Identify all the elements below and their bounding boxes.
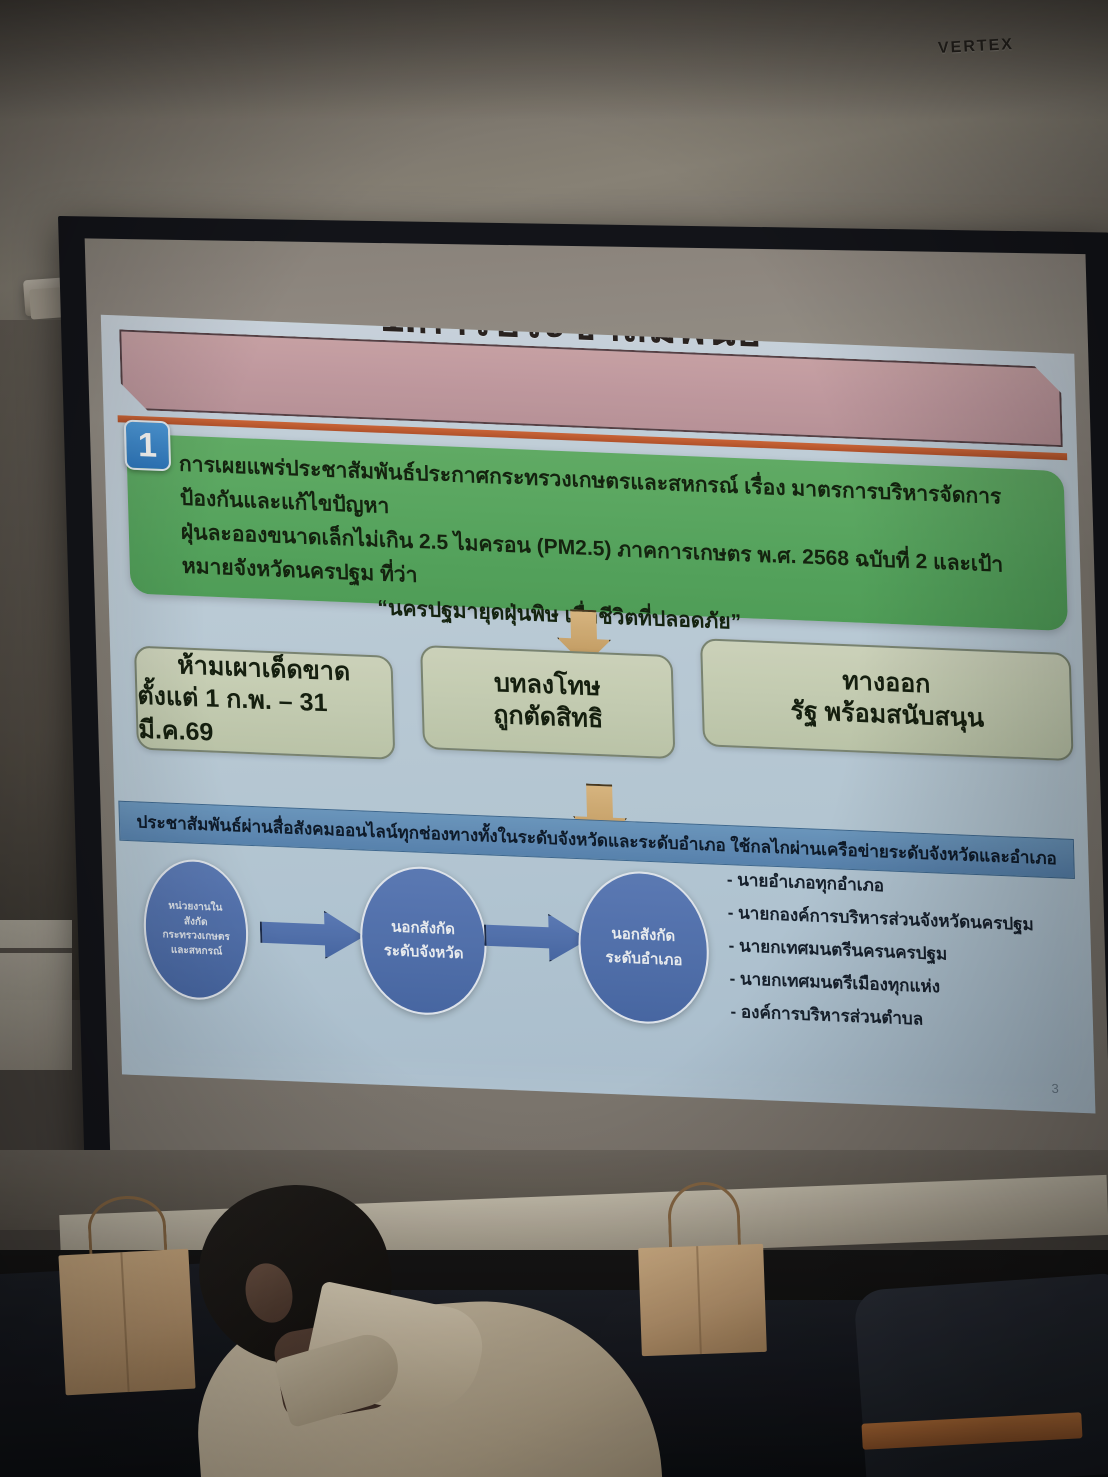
option-box-solution: ทางออก รัฐ พร้อมสนับสนุน bbox=[700, 638, 1074, 761]
flow-node-1-line-4: และสหกรณ์ bbox=[171, 943, 223, 960]
option-box-penalty: บทลงโทษ ถูกตัดสิทธิ bbox=[420, 645, 675, 759]
arrow-right-icon-1 bbox=[259, 908, 364, 960]
list-item: นายกองค์การบริหารส่วนจังหวัดนครปฐม bbox=[727, 904, 1088, 935]
flow-node-3-line-1: นอกสังกัด bbox=[611, 922, 675, 949]
bag-crease bbox=[696, 1246, 702, 1354]
list-item: นายกเทศมนตรีนครนครปฐม bbox=[728, 937, 1089, 968]
flow-node-district-external: นอกสังกัด ระดับอำเภอ bbox=[576, 869, 710, 1026]
seated-attendee bbox=[160, 1185, 680, 1477]
flow-node-1-line-2: สังกัด bbox=[184, 915, 208, 930]
recipient-list: นายอำเภอทุกอำเภอ นายกองค์การบริหารส่วนจั… bbox=[727, 871, 1092, 1050]
window-frame bbox=[0, 948, 72, 953]
step-number-badge: 1 bbox=[124, 419, 171, 471]
slide-page-number: 3 bbox=[1051, 1081, 1059, 1096]
paper-bag-left bbox=[58, 1249, 195, 1396]
intro-green-box: 1 การเผยแพร่ประชาสัมพันธ์ประกาศกระทรวงเก… bbox=[126, 434, 1068, 632]
intro-text: การเผยแพร่ประชาสัมพันธ์ประกาศกระทรวงเกษต… bbox=[179, 448, 1057, 653]
ceiling-shadow bbox=[0, 0, 1108, 120]
photo-scene: VERTEX 1.การประชาสัมพันธ์ 1 การเผยแพร่ปร… bbox=[0, 0, 1108, 1477]
option-box-ban-burning: ห้ามเผาเด็ดขาด ตั้งแต่ 1 ก.พ. – 31 มี.ค.… bbox=[134, 646, 395, 760]
flow-node-2-line-2: ระดับจังหวัด bbox=[384, 939, 464, 966]
flow-node-1-line-1: หน่วยงานใน bbox=[168, 900, 222, 917]
option-1-line-2: ตั้งแต่ 1 ก.พ. – 31 มี.ค.69 bbox=[137, 679, 393, 757]
flow-node-2-line-1: นอกสังกัด bbox=[391, 915, 455, 942]
flow-node-ministry-units: หน่วยงานใน สังกัด กระทรวงเกษตร และสหกรณ์ bbox=[142, 858, 250, 1002]
option-2-line-1: บทลงโทษ bbox=[494, 667, 601, 703]
presentation-slide: 1.การประชาสัมพันธ์ 1 การเผยแพร่ประชาสัมพ… bbox=[101, 315, 1096, 1114]
paper-bag-right bbox=[638, 1244, 767, 1356]
flow-node-province-external: นอกสังกัด ระดับจังหวัด bbox=[358, 864, 488, 1017]
bag-crease bbox=[120, 1252, 129, 1392]
option-2-line-2: ถูกตัดสิทธิ bbox=[493, 699, 604, 737]
projection-screen: 1.การประชาสัมพันธ์ 1 การเผยแพร่ประชาสัมพ… bbox=[58, 216, 1108, 1242]
arrow-right-icon-2 bbox=[484, 911, 589, 963]
screen-surface: 1.การประชาสัมพันธ์ 1 การเผยแพร่ประชาสัมพ… bbox=[85, 238, 1108, 1165]
window-left bbox=[0, 920, 72, 1070]
option-3-line-2: รัฐ พร้อมสนับสนุน bbox=[790, 695, 984, 736]
option-3-line-1: ทางออก bbox=[842, 665, 931, 700]
list-item: นายกเทศมนตรีเมืองทุกแห่ง bbox=[729, 970, 1090, 1001]
flow-node-3-line-2: ระดับอำเภอ bbox=[605, 946, 683, 973]
list-item: องค์การบริหารส่วนตำบล bbox=[730, 1003, 1091, 1034]
flow-diagram: หน่วยงานใน สังกัด กระทรวงเกษตร และสหกรณ์… bbox=[126, 851, 1085, 1099]
intro-line-1: การเผยแพร่ประชาสัมพันธ์ประกาศกระทรวงเกษต… bbox=[179, 453, 1002, 518]
